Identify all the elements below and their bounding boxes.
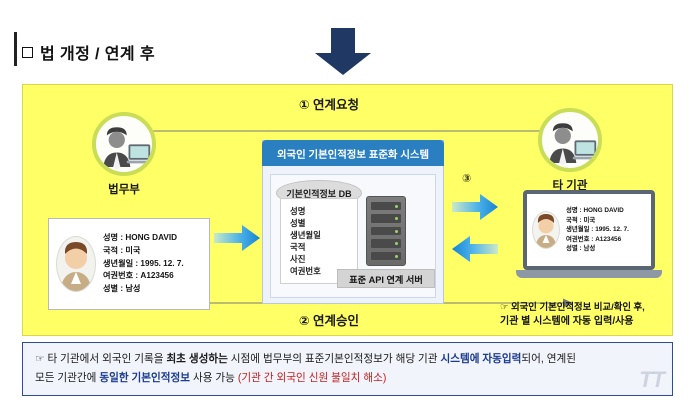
lp-field-passport: 여권번호 : A123456 [566,235,629,245]
agency-laptop: 성명 : HONG DAVID 국적 : 미국 생년월일 : 1995. 12.… [516,190,662,278]
step3-label: ③ [462,172,471,185]
banner-l1-p3: 되어, 연계된 [521,353,576,365]
banner-line-1: ☞ 타 기관에서 외국인 기록을 최초 생성하는 시점에 법무부의 표준기본인적… [35,350,662,369]
rack-slot [371,252,401,260]
summary-banner: ☞ 타 기관에서 외국인 기록을 최초 생성하는 시점에 법무부의 표준기본인적… [22,342,673,396]
right-note-line1-text: 외국인 기본인적정보 비교/확인 후, [511,301,645,312]
lp-field-gender: 성별 : 남성 [566,244,629,254]
db-field-1: 성별 [290,218,357,230]
banner-l1-b1: 최초 생성하는 [166,353,227,365]
diagram-root: 법 개정 / 연계 후 ① 연계요청 ② 연계승인 [0,0,695,406]
official-person-laptop-icon [92,112,156,176]
id-field-name: 성명 : HONG DAVID [103,232,184,245]
step2-label: ② 연계승인 [299,310,359,329]
lp-field-name: 성명 : HONG DAVID [566,206,629,216]
flow-arrow-request [118,124,573,136]
lp-field-nation: 국적 : 미국 [566,216,629,226]
system-header: 외국인 기본인적정보 표준화 시스템 [262,140,444,166]
id-card-fields: 성명 : HONG DAVID 국적 : 미국 생년월일 : 1995. 12.… [103,232,184,296]
rack-slot [371,202,401,210]
id-field-nation: 국적 : 미국 [103,245,184,258]
right-note-line1: ☞ 외국인 기본인적정보 비교/확인 후, [500,300,690,314]
rack-slot [371,239,401,247]
right-note: ☞ 외국인 기본인적정보 비교/확인 후, 기관 별 시스템에 자동 입력/사용 [500,300,690,329]
db-field-4: 사진 [290,254,357,266]
official-person-laptop-icon [538,108,602,172]
pointer-icon: ☞ [500,301,508,312]
rack-slot [371,214,401,222]
square-bullet-icon [22,47,33,58]
api-server-label-text: 표준 API 연계 서버 [349,272,423,286]
laptop-record-fields: 성명 : HONG DAVID 국적 : 미국 생년월일 : 1995. 12.… [566,206,629,254]
banner-l2-p2: 사용 가능 [190,372,238,384]
left-agency-label: 법무부 [78,181,170,197]
id-card: 성명 : HONG DAVID 국적 : 미국 생년월일 : 1995. 12.… [48,218,210,310]
db-field-3: 국적 [290,242,357,254]
title-accent-bar [14,32,17,66]
portrait-photo-icon [532,211,560,249]
banner-l1-b2: 시스템에 자동입력 [440,353,521,365]
lp-field-birth: 생년월일 : 1995. 12. 7. [566,225,629,235]
page-title: 법 개정 / 연계 후 [22,40,155,64]
page-title-text: 법 개정 / 연계 후 [40,40,155,64]
laptop-base [516,270,662,278]
api-server-label: 표준 API 연계 서버 [337,269,435,288]
banner-l2-p1: 모든 기관간에 [35,372,99,384]
id-field-passport: 여권번호 : A123456 [103,270,184,283]
arrow-into-system-icon [214,224,260,257]
right-agency: 타 기관 [524,108,616,193]
id-field-gender: 성별 : 남성 [103,283,184,296]
arrow-to-agency-icon [452,194,498,225]
server-rack-icon [366,196,406,266]
banner-line-2: 모든 기관간에 동일한 기본인적정보 사용 가능 (기관 간 외국인 신원 불일… [35,369,662,388]
down-arrow-icon [308,28,378,81]
banner-l2-r1: (기관 간 외국인 신원 불일치 해소) [238,372,386,384]
banner-l2-b1: 동일한 기본인적정보 [99,372,190,384]
rack-slot [371,227,401,235]
step1-label: ① 연계요청 [299,94,359,113]
db-field-0: 성명 [290,206,357,218]
db-field-2: 생년월일 [290,230,357,242]
pointer-icon: ☞ [35,353,45,365]
system-header-text: 외국인 기본인적정보 표준화 시스템 [277,146,429,161]
banner-l1-p1: 타 기관에서 외국인 기록을 [47,353,166,365]
portrait-photo-icon [56,236,96,292]
laptop-screen: 성명 : HONG DAVID 국적 : 미국 생년월일 : 1995. 12.… [523,190,655,270]
right-note-line2: 기관 별 시스템에 자동 입력/사용 [500,314,690,329]
watermark: TT [639,367,664,393]
arrow-from-agency-icon [452,236,498,267]
id-field-birth: 생년월일 : 1995. 12. 7. [103,258,184,271]
banner-l1-p2: 시점에 법무부의 표준기본인적정보가 해당 기관 [228,353,441,365]
left-agency: 법무부 [78,112,170,197]
